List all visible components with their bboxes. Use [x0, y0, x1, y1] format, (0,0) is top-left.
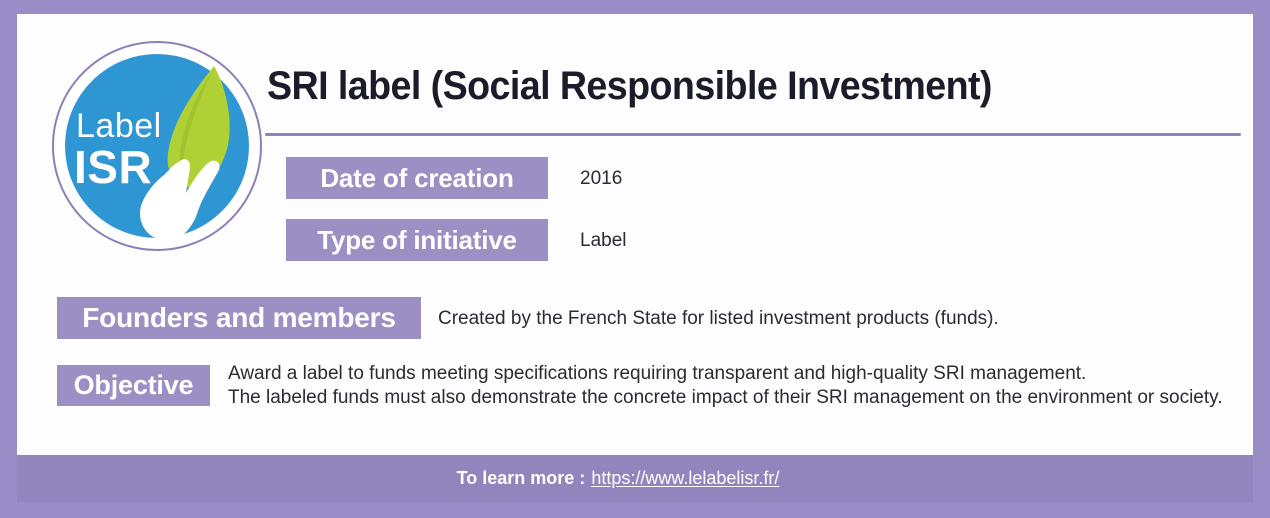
footer-website-link[interactable]: https://www.lelabelisr.fr/ [591, 468, 779, 489]
poster-frame: Label ISR SRI label (Social Responsible … [0, 0, 1270, 518]
content-card: Label ISR SRI label (Social Responsible … [17, 14, 1253, 455]
footer-label: To learn more : [457, 468, 586, 489]
label-isr-logo: Label ISR [52, 41, 262, 251]
field-label-date-of-creation: Date of creation [286, 157, 548, 199]
title-divider [265, 133, 1241, 136]
field-value-founders-and-members: Created by the French State for listed i… [438, 308, 999, 330]
page-title: SRI label (Social Responsible Investment… [267, 64, 992, 109]
logo-graphic-icon: Label ISR [52, 41, 262, 251]
svg-text:ISR: ISR [74, 141, 152, 193]
objective-line-2: The labeled funds must also demonstrate … [228, 386, 1223, 410]
field-value-date-of-creation: 2016 [580, 168, 622, 190]
footer-bar: To learn more : https://www.lelabelisr.f… [17, 455, 1253, 502]
field-value-objective: Award a label to funds meeting specifica… [228, 362, 1223, 410]
field-value-type-of-initiative: Label [580, 230, 627, 252]
svg-text:Label: Label [76, 107, 162, 145]
field-label-founders-and-members: Founders and members [57, 297, 421, 339]
objective-line-1: Award a label to funds meeting specifica… [228, 362, 1223, 386]
field-label-type-of-initiative: Type of initiative [286, 219, 548, 261]
field-label-objective: Objective [57, 365, 210, 406]
footer-content: To learn more : https://www.lelabelisr.f… [457, 468, 780, 489]
